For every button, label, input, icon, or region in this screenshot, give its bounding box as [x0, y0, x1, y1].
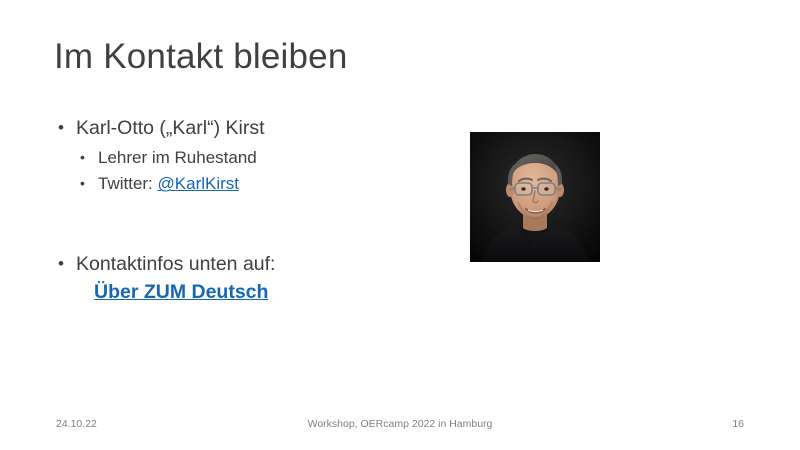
page-title: Im Kontakt bleiben — [54, 38, 348, 77]
list-item-label: Twitter: — [98, 174, 158, 193]
list-spacer — [56, 199, 446, 251]
bullet-list-level1: • Karl-Otto („Karl“) Kirst • Lehrer im R… — [56, 116, 446, 305]
footer-center-text: Workshop, OERcamp 2022 in Hamburg — [0, 418, 800, 430]
slide-footer: 24.10.22 Workshop, OERcamp 2022 in Hambu… — [0, 418, 800, 432]
list-item: • Karl-Otto („Karl“) Kirst • Lehrer im R… — [56, 116, 446, 197]
zum-deutsch-link[interactable]: Über ZUM Deutsch — [94, 281, 268, 303]
portrait-photo — [470, 132, 600, 262]
list-item: • Twitter: @KarlKirst — [76, 172, 446, 197]
list-item-label: Kontaktinfos unten auf: — [76, 253, 275, 275]
bullet-glyph-icon: • — [58, 116, 64, 141]
bullet-glyph-icon: • — [80, 172, 85, 196]
slide: Im Kontakt bleiben • Karl-Otto („Karl“) … — [0, 0, 800, 450]
slide-body: • Karl-Otto („Karl“) Kirst • Lehrer im R… — [56, 116, 446, 306]
twitter-handle-link[interactable]: @KarlKirst — [158, 174, 240, 193]
list-item: • Lehrer im Ruhestand — [76, 146, 446, 171]
list-item-label: Karl-Otto („Karl“) Kirst — [76, 117, 265, 139]
bullet-glyph-icon: • — [80, 146, 85, 170]
list-item: • Kontaktinfos unten auf: Über ZUM Deuts… — [56, 252, 446, 305]
footer-page-number: 16 — [732, 418, 744, 430]
bullet-list-level2: • Lehrer im Ruhestand • Twitter: @KarlKi… — [76, 146, 446, 197]
list-item-label: Lehrer im Ruhestand — [98, 148, 257, 167]
contact-link-line: Über ZUM Deutsch — [76, 280, 446, 306]
bullet-glyph-icon: • — [58, 252, 64, 277]
